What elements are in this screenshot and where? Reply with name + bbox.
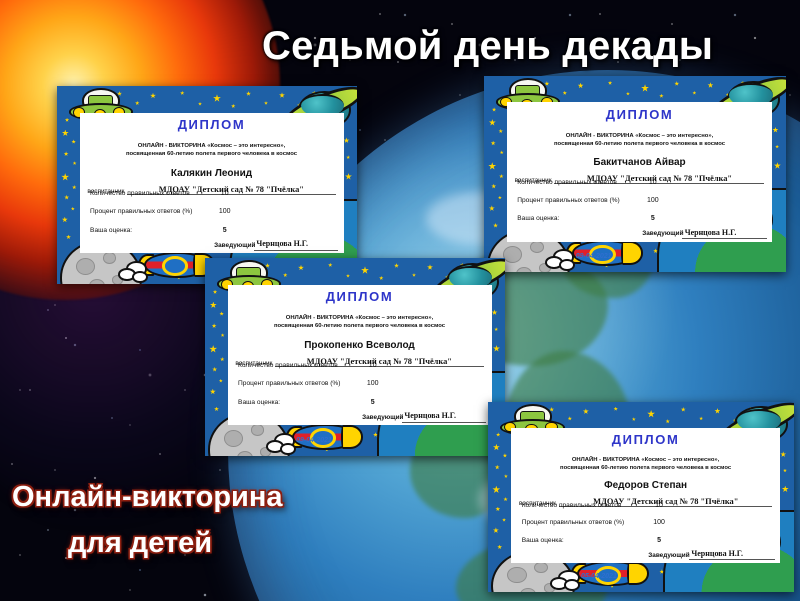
signature-underline	[402, 422, 487, 423]
certificate-title: ДИПЛОМ	[511, 432, 780, 447]
page-title: Седьмой день декады	[262, 24, 713, 69]
signature-label: Заведующий	[642, 230, 683, 237]
certificate-subtitle: ОНЛАЙН - ВИКТОРИНА «Космос – это интерес…	[228, 314, 492, 330]
stat-label-0: Количество правильных ответов	[90, 190, 190, 197]
stat-label-0: Количество правильных ответов	[238, 362, 338, 369]
signature-name: Чернцова Н.Г.	[691, 549, 743, 558]
subtitle-row-2: посвященная 60-летию полета первого чело…	[274, 323, 445, 329]
certificate-subtitle: ОНЛАЙН - ВИКТОРИНА «Космос – это интерес…	[511, 456, 780, 472]
subtitle-row-2: посвященная 60-летию полета первого чело…	[560, 465, 731, 471]
stat-label-1: Процент правильных ответов (%)	[517, 197, 619, 204]
signature-name: Чернцова Н.Г.	[404, 411, 456, 420]
signature-label: Заведующий	[362, 414, 403, 421]
signature-name: Чернцова Н.Г.	[256, 239, 308, 248]
subtitle-row-2: посвященная 60-летию полета первого чело…	[126, 151, 297, 157]
subtitle-row-2: посвященная 60-летию полета первого чело…	[554, 141, 725, 147]
signature-underline	[682, 238, 767, 239]
slide-canvas: Седьмой день декады Онлайн-викторина для…	[0, 0, 800, 601]
stat-label-2: Ваша оценка:	[90, 227, 132, 234]
subtitle-row-1: ОНЛАЙН - ВИКТОРИНА «Космос – это интерес…	[286, 315, 434, 321]
subtitle-row-1: ОНЛАЙН - ВИКТОРИНА «Космос – это интерес…	[138, 143, 286, 149]
stat-value-0: 10	[352, 362, 394, 369]
certificate-subtitle: ОНЛАЙН - ВИКТОРИНА «Космос – это интерес…	[507, 132, 773, 148]
signature-name: Чернцова Н.Г.	[685, 228, 737, 237]
issue-date: 09-04-2021	[576, 253, 612, 260]
cert-kalyakin[interactable]: ДИПЛОМ ОНЛАЙН - ВИКТОРИНА «Космос – это …	[57, 86, 357, 284]
certificate-subtitle: ОНЛАЙН - ВИКТОРИНА «Космос – это интерес…	[80, 142, 344, 158]
signature-underline	[689, 559, 775, 560]
subtitle-line-1: Онлайн-викторина	[12, 481, 283, 514]
stat-value-1: 100	[638, 519, 681, 526]
stat-label-2: Ваша оценка:	[517, 215, 559, 222]
certificate-paper: ДИПЛОМ ОНЛАЙН - ВИКТОРИНА «Космос – это …	[228, 285, 492, 426]
certificate-paper: ДИПЛОМ ОНЛАЙН - ВИКТОРИНА «Космос – это …	[80, 113, 344, 254]
recipient-name: Федоров Степан	[511, 480, 780, 491]
stat-label-1: Процент правильных ответов (%)	[90, 208, 192, 215]
subtitle-row-1: ОНЛАЙН - ВИКТОРИНА «Космос – это интерес…	[572, 457, 720, 463]
certificate-title: ДИПЛОМ	[80, 117, 344, 132]
certificate-paper: ДИПЛОМ ОНЛАЙН - ВИКТОРИНА «Космос – это …	[507, 102, 773, 241]
stat-value-1: 100	[352, 380, 394, 387]
recipient-name: Калякин Леонид	[80, 168, 344, 179]
stat-value-0: 10	[204, 190, 246, 197]
subtitle-line-2: для детей	[68, 527, 212, 560]
stat-label-1: Процент правильных ответов (%)	[522, 519, 624, 526]
stat-value-1: 100	[632, 197, 675, 204]
recipient-name: Прокопенко Всеволод	[228, 340, 492, 351]
signature-label: Заведующий	[648, 552, 689, 559]
cert-prokopenko[interactable]: ДИПЛОМ ОНЛАЙН - ВИКТОРИНА «Космос – это …	[205, 258, 505, 456]
certificate-title: ДИПЛОМ	[507, 107, 773, 122]
stat-label-2: Ваша оценка:	[238, 399, 280, 406]
cert-fedorov[interactable]: ДИПЛОМ ОНЛАЙН - ВИКТОРИНА «Космос – это …	[488, 402, 794, 592]
stat-value-2: 5	[638, 537, 681, 544]
signature-label: Заведующий	[214, 242, 255, 249]
stat-value-1: 100	[204, 208, 246, 215]
certificate-paper: ДИПЛОМ ОНЛАЙН - ВИКТОРИНА «Космос – это …	[511, 428, 780, 563]
recipient-name: Бакитчанов Айвар	[507, 157, 773, 168]
stat-value-2: 5	[632, 215, 675, 222]
stat-value-2: 5	[204, 227, 246, 234]
certificate-title: ДИПЛОМ	[228, 289, 492, 304]
stat-label-2: Ваша оценка:	[522, 537, 564, 544]
stat-value-0: 10	[638, 502, 681, 509]
issue-date: 05-04-2021	[581, 573, 617, 580]
stat-value-0: 10	[632, 179, 675, 186]
stat-label-0: Количество правильных ответов	[522, 502, 622, 509]
issue-date: 09-04-2021	[296, 437, 332, 444]
cert-bakitchanov[interactable]: ДИПЛОМ ОНЛАЙН - ВИКТОРИНА «Космос – это …	[484, 76, 786, 272]
stat-label-0: Количество правильных ответов	[517, 179, 617, 186]
stat-label-1: Процент правильных ответов (%)	[238, 380, 340, 387]
subtitle-row-1: ОНЛАЙН - ВИКТОРИНА «Космос – это интерес…	[566, 133, 714, 139]
signature-underline	[254, 250, 339, 251]
stat-value-2: 5	[352, 399, 394, 406]
